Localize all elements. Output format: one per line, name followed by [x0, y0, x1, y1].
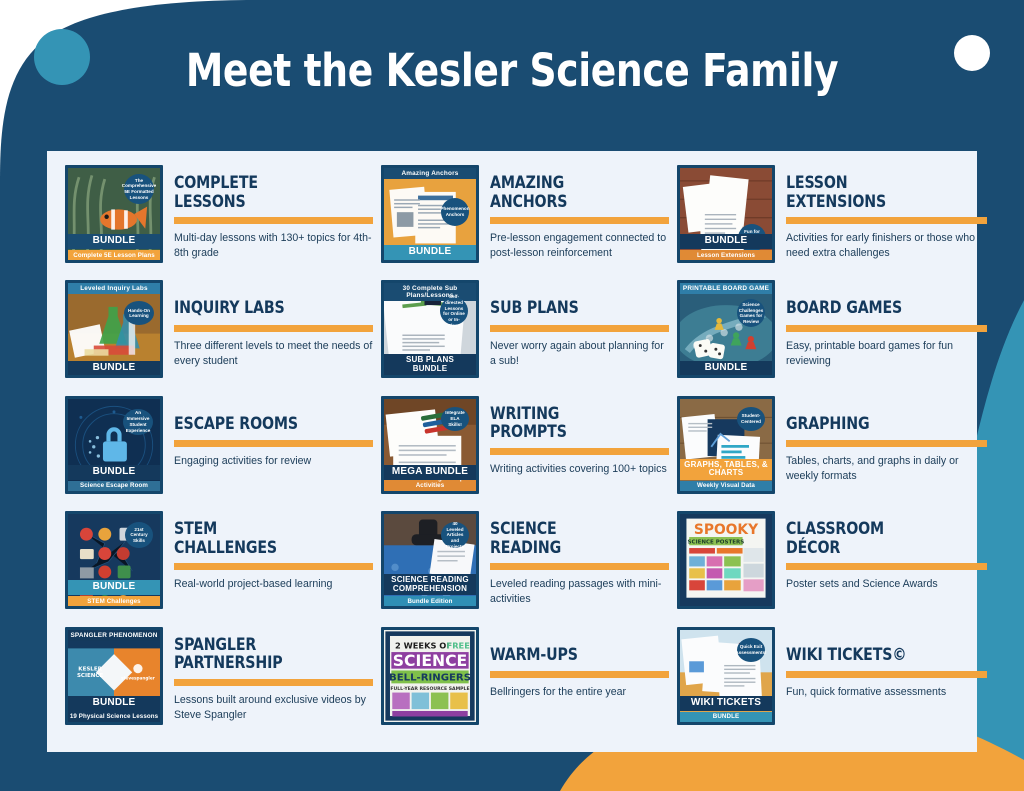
- svg-text:FULL-YEAR RESOURCE SAMPLE: FULL-YEAR RESOURCE SAMPLE: [390, 685, 469, 691]
- page-title: Meet the Kesler Science Family: [36, 44, 988, 97]
- thumbnail-subcaption: Weekly Visual Data: [680, 481, 772, 491]
- warm-ups-cover[interactable]: 2 WEEKS OF FREE SCIENCE BELL-RINGERS FUL…: [381, 627, 479, 725]
- svg-text:FREE: FREE: [447, 640, 471, 650]
- poster-canvas: Meet the Kesler Science Family The Compr…: [0, 0, 1024, 791]
- product-description: Pre-lesson engagement connected to post-…: [490, 231, 669, 261]
- product-title: COMPLETE LESSONS: [174, 174, 363, 211]
- spangler-partnership-cover[interactable]: KESLER SCIENCE stevespangler SPANGLER PH…: [65, 627, 163, 725]
- thumbnail-caption: BUNDLE: [680, 361, 772, 376]
- product-text: INQUIRY LABSThree different levels to me…: [174, 280, 373, 369]
- product-title: LESSON EXTENSIONS: [786, 174, 977, 211]
- thumbnail-caption: BUNDLE: [68, 580, 160, 595]
- thumbnail-caption: BUNDLE: [680, 234, 772, 249]
- product-description: Tables, charts, and graphs in daily or w…: [786, 454, 987, 484]
- product-card[interactable]: 21st Century SkillsSTEM ChallengesBUNDLE…: [65, 511, 381, 626]
- product-description: Multi-day lessons with 130+ topics for 4…: [174, 231, 373, 261]
- product-card[interactable]: 2 WEEKS OF FREE SCIENCE BELL-RINGERS FUL…: [381, 627, 677, 742]
- svg-text:SCIENCE: SCIENCE: [77, 673, 104, 679]
- thumbnail-caption: SCIENCE READING COMPREHENSION: [384, 574, 476, 595]
- thumbnail-subcaption: BUNDLE: [680, 712, 772, 722]
- product-card[interactable]: The Comprehensive 5E Formatted LessonsCo…: [65, 165, 381, 280]
- product-title: GRAPHING: [786, 415, 977, 434]
- thumbnail-badge: Student-Centered: [737, 407, 765, 431]
- product-title: STEM CHALLENGES: [174, 520, 363, 557]
- thumbnail-subcaption: Lesson Extensions: [680, 250, 772, 260]
- accent-rule: [786, 217, 987, 224]
- sub-plans-cover[interactable]: 30 Complete Sub Plans/LessonsSelf-direct…: [381, 280, 479, 378]
- thumbnail-badge: 40 Leveled Articles and Projects: [441, 522, 469, 548]
- svg-text:2 WEEKS OF: 2 WEEKS OF: [395, 640, 452, 650]
- writing-prompts-cover[interactable]: Integrate ELA Skills!Science Writing Pro…: [381, 396, 479, 494]
- thumbnail-caption: BUNDLE: [384, 245, 476, 260]
- product-title: SPANGLER PARTNERSHIP: [174, 636, 363, 673]
- product-description: Bellringers for the entire year: [490, 685, 669, 700]
- product-card[interactable]: Student-CenteredWeekly Visual DataGRAPHS…: [677, 396, 995, 511]
- accent-rule: [490, 563, 669, 570]
- product-card[interactable]: 40 Leveled Articles and ProjectsBundle E…: [381, 511, 677, 626]
- product-title: WIKI TICKETS©: [786, 646, 977, 665]
- accent-rule: [174, 325, 373, 332]
- product-title: ESCAPE ROOMS: [174, 415, 363, 434]
- product-text: BOARD GAMESEasy, printable board games f…: [786, 280, 987, 369]
- accent-rule: [786, 563, 987, 570]
- product-description: Leveled reading passages with mini-activ…: [490, 577, 669, 607]
- thumbnail-caption: SUB PLANS BUNDLE: [384, 354, 476, 375]
- product-text: WRITING PROMPTSWriting activities coveri…: [490, 396, 669, 477]
- product-title: BOARD GAMES: [786, 299, 977, 318]
- product-description: Writing activities covering 100+ topics: [490, 462, 669, 477]
- svg-text:stevespangler: stevespangler: [121, 675, 156, 680]
- product-description: Easy, printable board games for fun revi…: [786, 339, 987, 369]
- thumbnail-caption: BUNDLE: [68, 234, 160, 249]
- product-text: COMPLETE LESSONSMulti-day lessons with 1…: [174, 165, 373, 261]
- accent-rule: [174, 217, 373, 224]
- product-title: AMAZING ANCHORS: [490, 174, 660, 211]
- thumbnail-caption: GRAPHS, TABLES, & CHARTS: [680, 459, 772, 480]
- accent-rule: [786, 440, 987, 447]
- product-text: SCIENCE READINGLeveled reading passages …: [490, 511, 669, 607]
- accent-rule: [786, 671, 987, 678]
- svg-text:BELL-RINGERS: BELL-RINGERS: [389, 672, 471, 683]
- accent-rule: [786, 325, 987, 332]
- product-card[interactable]: An Immersive Student ExperienceScience E…: [65, 396, 381, 511]
- svg-text:SCIENCE POSTERS: SCIENCE POSTERS: [688, 540, 745, 546]
- product-title: WRITING PROMPTS: [490, 405, 660, 442]
- thumbnail-top-band: PRINTABLE BOARD GAME: [680, 283, 772, 294]
- thumbnail-subcaption: Science Escape Room: [68, 481, 160, 491]
- accent-rule: [490, 325, 669, 332]
- stem-challenges-cover[interactable]: 21st Century SkillsSTEM ChallengesBUNDLE: [65, 511, 163, 609]
- board-games-cover[interactable]: PRINTABLE BOARD GAMEScience Challenges G…: [677, 280, 775, 378]
- product-text: SPANGLER PARTNERSHIPLessons built around…: [174, 627, 373, 723]
- thumbnail-subcaption: 19 Physical Science Lessons: [68, 712, 160, 722]
- products-grid: The Comprehensive 5E Formatted LessonsCo…: [47, 151, 977, 752]
- thumbnail-caption: BUNDLE: [68, 465, 160, 480]
- product-title: SUB PLANS: [490, 299, 660, 318]
- accent-rule: [490, 217, 669, 224]
- thumbnail-top-band: Amazing Anchors: [384, 168, 476, 179]
- accent-rule: [490, 448, 669, 455]
- accent-rule: [174, 440, 373, 447]
- product-card[interactable]: Leveled Inquiry LabsHands-On LearningBUN…: [65, 280, 381, 395]
- product-title: WARM-UPS: [490, 646, 660, 665]
- graphing-cover[interactable]: Student-CenteredWeekly Visual DataGRAPHS…: [677, 396, 775, 494]
- svg-text:KESLER: KESLER: [78, 666, 102, 672]
- thumbnail-badge: The Comprehensive 5E Formatted Lessons: [124, 174, 154, 204]
- product-card[interactable]: Fun for Early Finishers!Lesson Extension…: [677, 165, 995, 280]
- thumbnail-badge: 21st Century Skills: [125, 522, 153, 548]
- product-description: Lessons built around exclusive videos by…: [174, 693, 373, 723]
- product-text: WARM-UPSBellringers for the entire year: [490, 627, 669, 701]
- product-card[interactable]: KESLER SCIENCE stevespangler SPANGLER PH…: [65, 627, 381, 742]
- amazing-anchors-cover[interactable]: Amazing AnchorsPhenomenon AnchorsBUNDLE: [381, 165, 479, 263]
- thumbnail-top-band: SPANGLER PHENOMENON: [68, 630, 160, 641]
- product-card[interactable]: SPOOKY SCIENCE POSTERS CLASSROOM DÉCORPo…: [677, 511, 995, 626]
- classroom-decor-cover[interactable]: SPOOKY SCIENCE POSTERS: [677, 511, 775, 609]
- product-text: CLASSROOM DÉCORPoster sets and Science A…: [786, 511, 987, 592]
- product-card[interactable]: PRINTABLE BOARD GAMEScience Challenges G…: [677, 280, 995, 395]
- product-card[interactable]: 30 Complete Sub Plans/LessonsSelf-direct…: [381, 280, 677, 395]
- product-title: SCIENCE READING: [490, 520, 660, 557]
- wiki-tickets-cover[interactable]: Quick Exit Assessments!BUNDLEWIKI TICKET…: [677, 627, 775, 725]
- thumbnail-badge: An Immersive Student Experience: [123, 409, 153, 435]
- product-text: SUB PLANSNever worry again about plannin…: [490, 280, 669, 369]
- science-reading-cover[interactable]: 40 Leveled Articles and ProjectsBundle E…: [381, 511, 479, 609]
- product-card[interactable]: Amazing AnchorsPhenomenon AnchorsBUNDLEA…: [381, 165, 677, 280]
- product-description: Poster sets and Science Awards: [786, 577, 987, 592]
- lesson-extensions-cover[interactable]: Fun for Early Finishers!Lesson Extension…: [677, 165, 775, 263]
- accent-rule: [174, 563, 373, 570]
- thumbnail-caption: WIKI TICKETS: [680, 696, 772, 711]
- product-description: Fun, quick formative assessments: [786, 685, 987, 700]
- product-description: Three different levels to meet the needs…: [174, 339, 373, 369]
- product-description: Engaging activities for review: [174, 454, 373, 469]
- thumbnail-badge: Phenomenon Anchors: [441, 198, 469, 226]
- accent-rule: [174, 679, 373, 686]
- thumbnail-artwork: 2 WEEKS OF FREE SCIENCE BELL-RINGERS FUL…: [384, 630, 476, 722]
- thumbnail-badge: Science Challenges Games for Review: [737, 299, 765, 327]
- products-panel: The Comprehensive 5E Formatted LessonsCo…: [47, 151, 977, 752]
- product-text: LESSON EXTENSIONSActivities for early fi…: [786, 165, 987, 261]
- complete-lessons-cover[interactable]: The Comprehensive 5E Formatted LessonsCo…: [65, 165, 163, 263]
- product-title: INQUIRY LABS: [174, 299, 363, 318]
- thumbnail-artwork: SPOOKY SCIENCE POSTERS: [680, 514, 772, 606]
- thumbnail-caption: BUNDLE: [68, 696, 160, 711]
- inquiry-labs-cover[interactable]: Leveled Inquiry LabsHands-On LearningBUN…: [65, 280, 163, 378]
- product-text: ESCAPE ROOMSEngaging activities for revi…: [174, 396, 373, 470]
- svg-text:SPOOKY: SPOOKY: [694, 522, 759, 538]
- thumbnail-badge: Quick Exit Assessments!: [737, 638, 765, 662]
- thumbnail-top-band: Leveled Inquiry Labs: [68, 283, 160, 294]
- thumbnail-subcaption: Bundle Edition: [384, 596, 476, 606]
- product-title: CLASSROOM DÉCOR: [786, 520, 977, 557]
- product-description: Real-world project-based learning: [174, 577, 373, 592]
- product-card[interactable]: Quick Exit Assessments!BUNDLEWIKI TICKET…: [677, 627, 995, 742]
- product-card[interactable]: Integrate ELA Skills!Science Writing Pro…: [381, 396, 677, 511]
- svg-text:SCIENCE: SCIENCE: [393, 650, 467, 669]
- product-text: GRAPHINGTables, charts, and graphs in da…: [786, 396, 987, 485]
- thumbnail-subcaption: Complete 5E Lesson Plans: [68, 250, 160, 260]
- product-description: Never worry again about planning for a s…: [490, 339, 669, 369]
- thumbnail-subcaption: STEM Challenges: [68, 596, 160, 606]
- product-text: AMAZING ANCHORSPre-lesson engagement con…: [490, 165, 669, 261]
- thumbnail-caption: BUNDLE: [68, 361, 160, 376]
- thumbnail-caption: MEGA BUNDLE: [384, 465, 476, 480]
- thumbnail-badge: Self-directed Lessons for Online or In-C…: [440, 297, 468, 325]
- product-description: Activities for early finishers or those …: [786, 231, 987, 261]
- product-text: STEM CHALLENGESReal-world project-based …: [174, 511, 373, 592]
- product-text: WIKI TICKETS©Fun, quick formative assess…: [786, 627, 987, 701]
- thumbnail-badge: Integrate ELA Skills!: [441, 407, 469, 431]
- accent-rule: [490, 671, 669, 678]
- escape-rooms-cover[interactable]: An Immersive Student ExperienceScience E…: [65, 396, 163, 494]
